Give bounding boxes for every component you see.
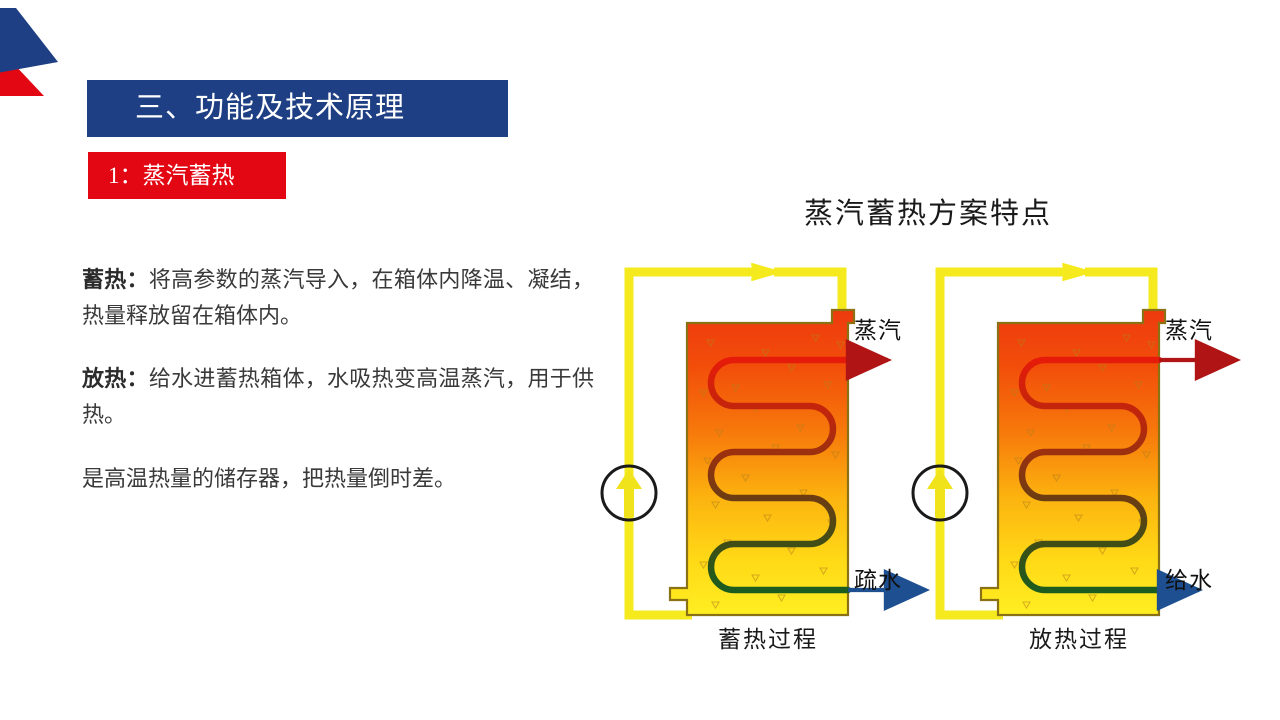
corner-logo-shape bbox=[0, 0, 72, 110]
slide-root: 三、功能及技术原理 1：蒸汽蓄热 蓄热：将高参数的蒸汽导入，在箱体内降温、凝结，… bbox=[0, 0, 1280, 720]
discharging-caption: 放热过程 bbox=[998, 620, 1160, 654]
paragraph-discharging-lead: 放热： bbox=[82, 366, 149, 391]
logo-blue-shape bbox=[0, 8, 58, 78]
discharging-steam-label: 蒸汽 bbox=[1165, 311, 1213, 345]
paragraph-summary-text: 是高温热量的储存器，把热量倒时差。 bbox=[82, 466, 456, 491]
body-text-block: 蓄热：将高参数的蒸汽导入，在箱体内降温、凝结，热量释放留在箱体内。 放热：给水进… bbox=[82, 262, 594, 496]
paragraph-charging: 蓄热：将高参数的蒸汽导入，在箱体内降温、凝结，热量释放留在箱体内。 bbox=[82, 262, 594, 333]
panel-discharging bbox=[913, 264, 1199, 615]
diagram-area: 蒸汽蓄热方案特点 bbox=[592, 190, 1264, 670]
paragraph-summary: 是高温热量的储存器，把热量倒时差。 bbox=[82, 461, 594, 497]
discharging-circulation-pump bbox=[913, 466, 967, 520]
paragraph-discharging-text: 给水进蓄热箱体，水吸热变高温蒸汽，用于供热。 bbox=[82, 366, 594, 427]
charging-drain-label: 疏水 bbox=[854, 561, 902, 595]
panel-charging bbox=[602, 264, 888, 615]
topic-badge-label: 1：蒸汽蓄热 bbox=[88, 164, 235, 187]
topic-badge: 1：蒸汽蓄热 bbox=[88, 152, 286, 199]
corner-logo bbox=[0, 0, 72, 110]
section-header-bar: 三、功能及技术原理 bbox=[87, 80, 508, 137]
charging-circulation-pump bbox=[602, 466, 656, 520]
discharging-feedwater-label: 给水 bbox=[1165, 561, 1213, 595]
paragraph-charging-lead: 蓄热： bbox=[82, 267, 149, 292]
charging-caption: 蓄热过程 bbox=[687, 620, 849, 654]
diagram-svg bbox=[592, 190, 1264, 670]
charging-steam-label: 蒸汽 bbox=[854, 311, 902, 345]
paragraph-discharging: 放热：给水进蓄热箱体，水吸热变高温蒸汽，用于供热。 bbox=[82, 361, 594, 432]
section-header-label: 三、功能及技术原理 bbox=[87, 94, 405, 123]
paragraph-charging-text: 将高参数的蒸汽导入，在箱体内降温、凝结，热量释放留在箱体内。 bbox=[82, 267, 594, 328]
